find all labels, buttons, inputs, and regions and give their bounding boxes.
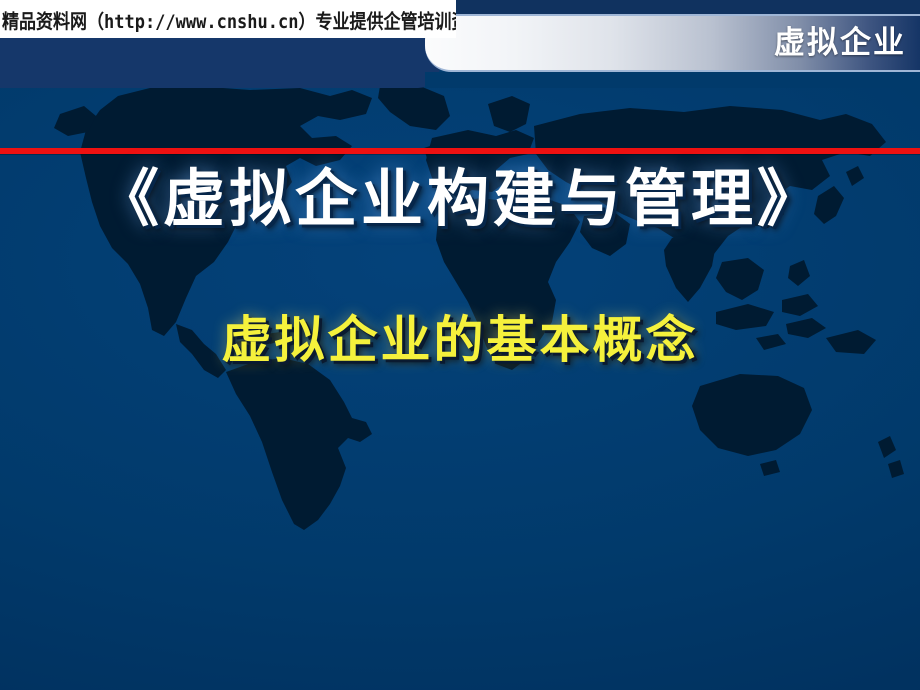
header-bottom-strip — [425, 72, 920, 88]
header-title: 虚拟企业 — [774, 28, 920, 59]
presentation-slide: 虚拟企业 精品资料网（http://www.cnshu.cn）专业提供企管培训资… — [0, 0, 920, 690]
watermark-banner: 精品资料网（http://www.cnshu.cn）专业提供企管培训资料 — [0, 0, 456, 38]
slide-header-band: 虚拟企业 — [425, 14, 920, 72]
header-top-strip — [425, 0, 920, 14]
header-left-notch — [0, 38, 440, 88]
watermark-text: 精品资料网（http://www.cnshu.cn）专业提供企管培训资料 — [0, 5, 456, 33]
page-subtitle: 虚拟企业的基本概念 — [0, 311, 920, 369]
red-divider-rule — [0, 148, 920, 154]
page-title: 《虚拟企业构建与管理》 — [0, 163, 920, 234]
